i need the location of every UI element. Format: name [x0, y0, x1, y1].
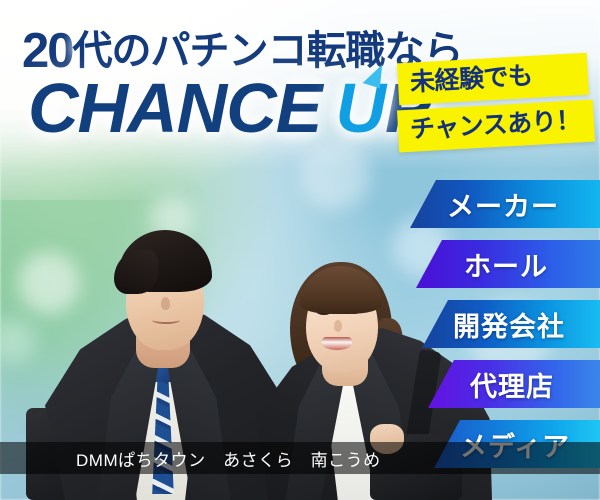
category-button-hall[interactable]: ホール: [416, 240, 600, 288]
female-nose: [334, 320, 342, 332]
category-list: メーカー ホール 開発会社 代理店 メディア: [410, 180, 600, 480]
logo-letter-u-accent: U: [335, 68, 385, 148]
badge-line-1: 未経験でも: [397, 53, 589, 106]
category-label: 代理店: [470, 365, 554, 404]
banner-advertisement: 20代のパチンコ転職なら CHANCEUP 未経験でも チャンスあり！ メーカー…: [0, 0, 600, 500]
male-hair-fringe: [114, 250, 158, 294]
male-mouth: [152, 316, 180, 324]
logo-chance-up: CHANCEUP: [28, 68, 431, 148]
category-button-developer[interactable]: 開発会社: [422, 300, 600, 348]
badge-line-2: チャンスあり！: [397, 100, 595, 153]
credit-text: DMMぱちタウン あさくら 南こうめ: [76, 446, 381, 471]
category-label: メーカー: [447, 185, 559, 224]
category-label: ホール: [464, 245, 548, 284]
category-label: 開発会社: [453, 305, 565, 344]
category-button-maker[interactable]: メーカー: [410, 180, 600, 228]
credit-bar: DMMぱちタウン あさくら 南こうめ: [0, 442, 600, 474]
female-mouth: [322, 337, 352, 350]
logo-word-chance: CHANCE: [28, 69, 321, 147]
yellow-badge: 未経験でも チャンスあり！: [398, 58, 594, 147]
category-button-agency[interactable]: 代理店: [428, 360, 600, 408]
male-nose: [161, 297, 170, 310]
